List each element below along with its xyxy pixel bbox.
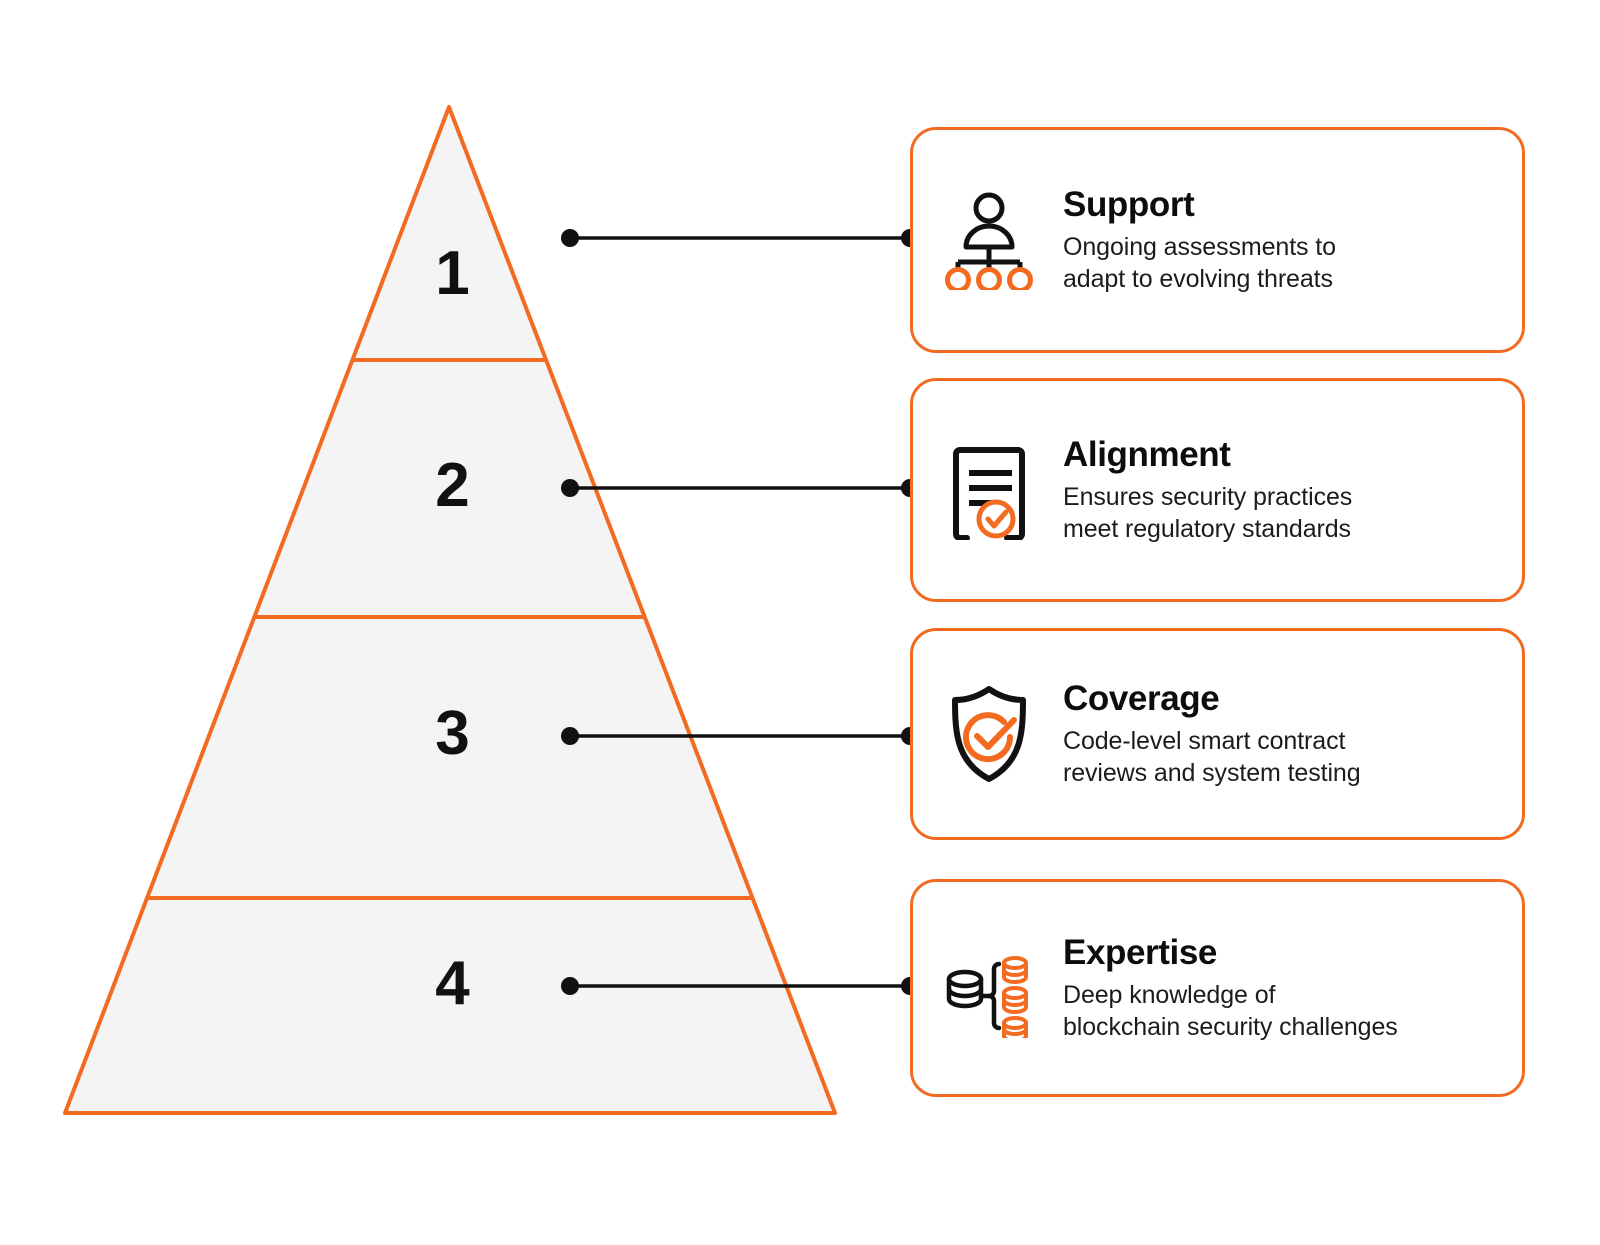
connector-line-1 [561,229,919,247]
pyramid-level-number-4: 4 [392,953,512,1015]
database-branch-icon [943,938,1035,1038]
card-description: Deep knowledge of blockchain security ch… [1063,980,1522,1043]
card-title: Alignment [1063,435,1522,474]
card-title: Expertise [1063,933,1522,972]
pyramid-level-number-2: 2 [392,455,512,517]
callout-card-support[interactable]: Support Ongoing assessments to adapt to … [910,127,1525,353]
card-text-block: Coverage Code-level smart contract revie… [1063,679,1522,789]
diagram-canvas: 1 2 3 4 [0,0,1600,1245]
pyramid-level-number-3: 3 [392,703,512,765]
card-text-block: Alignment Ensures security practices mee… [1063,435,1522,545]
card-description: Ongoing assessments to adapt to evolving… [1063,232,1522,295]
connector-line-2 [561,479,919,497]
shield-check-icon [943,684,1035,784]
document-check-icon [943,440,1035,540]
card-title: Support [1063,185,1522,224]
pyramid-level-number-1: 1 [392,243,512,305]
card-text-block: Expertise Deep knowledge of blockchain s… [1063,933,1522,1043]
card-description: Ensures security practices meet regulato… [1063,482,1522,545]
org-chart-person-icon [943,190,1035,290]
callout-card-alignment[interactable]: Alignment Ensures security practices mee… [910,378,1525,602]
card-description: Code-level smart contract reviews and sy… [1063,726,1522,789]
card-text-block: Support Ongoing assessments to adapt to … [1063,185,1522,295]
callout-card-coverage[interactable]: Coverage Code-level smart contract revie… [910,628,1525,840]
card-title: Coverage [1063,679,1522,718]
callout-card-expertise[interactable]: Expertise Deep knowledge of blockchain s… [910,879,1525,1097]
